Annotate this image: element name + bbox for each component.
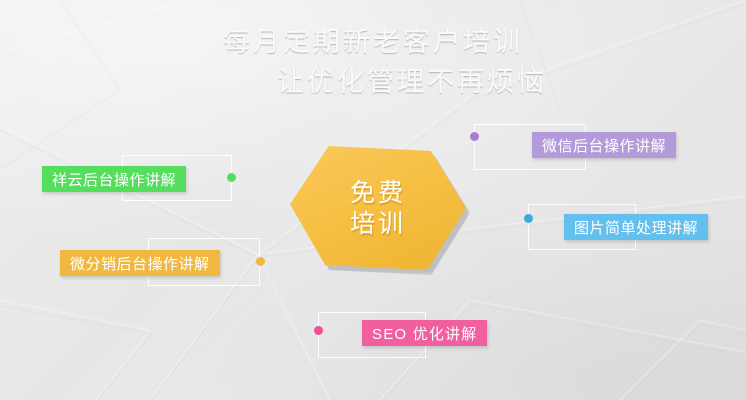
node-seo[interactable]: SEO 优化讲解 bbox=[304, 308, 534, 368]
node-weifenxiao[interactable]: 微分销后台操作讲解 bbox=[0, 232, 290, 294]
connector-dot-purple bbox=[470, 132, 479, 141]
connector-dot-blue bbox=[524, 214, 533, 223]
node-label-weixin[interactable]: 微信后台操作讲解 bbox=[532, 132, 676, 158]
node-xiangyun[interactable]: 祥云后台操作讲解 bbox=[0, 148, 250, 208]
node-weixin[interactable]: 微信后台操作讲解 bbox=[460, 118, 690, 176]
node-label-seo[interactable]: SEO 优化讲解 bbox=[362, 320, 487, 346]
connector-dot-orange bbox=[256, 257, 265, 266]
hexagon-label-line-1: 免费 bbox=[350, 178, 406, 208]
poster-canvas: 每月定期新老客户培训 让优化管理不再烦恼 免费 培训 祥云后台操作讲解 微分销后… bbox=[0, 0, 746, 400]
node-label-weifenxiao[interactable]: 微分销后台操作讲解 bbox=[60, 250, 220, 276]
hexagon-label-line-2: 培训 bbox=[350, 209, 406, 239]
node-tupian[interactable]: 图片简单处理讲解 bbox=[514, 198, 744, 256]
hexagon-label: 免费 培训 bbox=[290, 146, 466, 270]
connector-dot-pink bbox=[314, 326, 323, 335]
node-label-tupian[interactable]: 图片简单处理讲解 bbox=[564, 214, 708, 240]
free-training-badge[interactable]: 免费 培训 bbox=[290, 146, 466, 270]
connector-dot-green bbox=[227, 173, 236, 182]
node-label-xiangyun[interactable]: 祥云后台操作讲解 bbox=[42, 166, 186, 192]
